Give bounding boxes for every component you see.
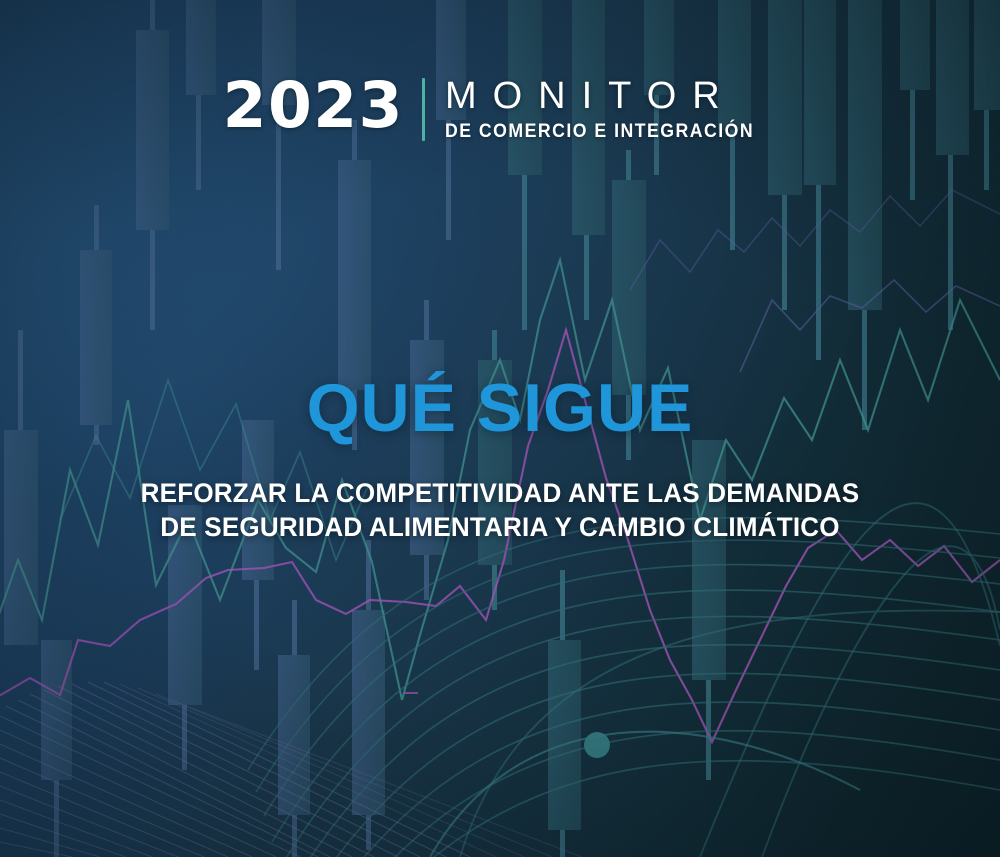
brand-title: MONITOR [445,76,777,116]
brand-lockup: MONITOR DE COMERCIO E INTEGRACIÓN [425,74,777,143]
masthead: 2023 MONITOR DE COMERCIO E INTEGRACIÓN [0,74,1000,143]
page-subtitle-line-1: REFORZAR LA COMPETITIVIDAD ANTE LAS DEMA… [18,476,983,510]
page-title: QUÉ SIGUE [0,373,1000,443]
year-label: 2023 [223,74,422,143]
brand-subtitle: DE COMERCIO E INTEGRACIÓN [445,121,754,143]
marker-arc [430,732,860,857]
page-subtitle: REFORZAR LA COMPETITIVIDAD ANTE LAS DEMA… [0,476,1000,544]
report-cover: 2023 MONITOR DE COMERCIO E INTEGRACIÓN Q… [0,0,1000,857]
page-subtitle-line-2: DE SEGURIDAD ALIMENTARIA Y CAMBIO CLIMÁT… [18,510,983,544]
marker-dot [584,732,610,758]
purple-mesh-fan [0,682,470,857]
large-arc-right [460,503,1000,857]
arc-family [248,518,1000,857]
